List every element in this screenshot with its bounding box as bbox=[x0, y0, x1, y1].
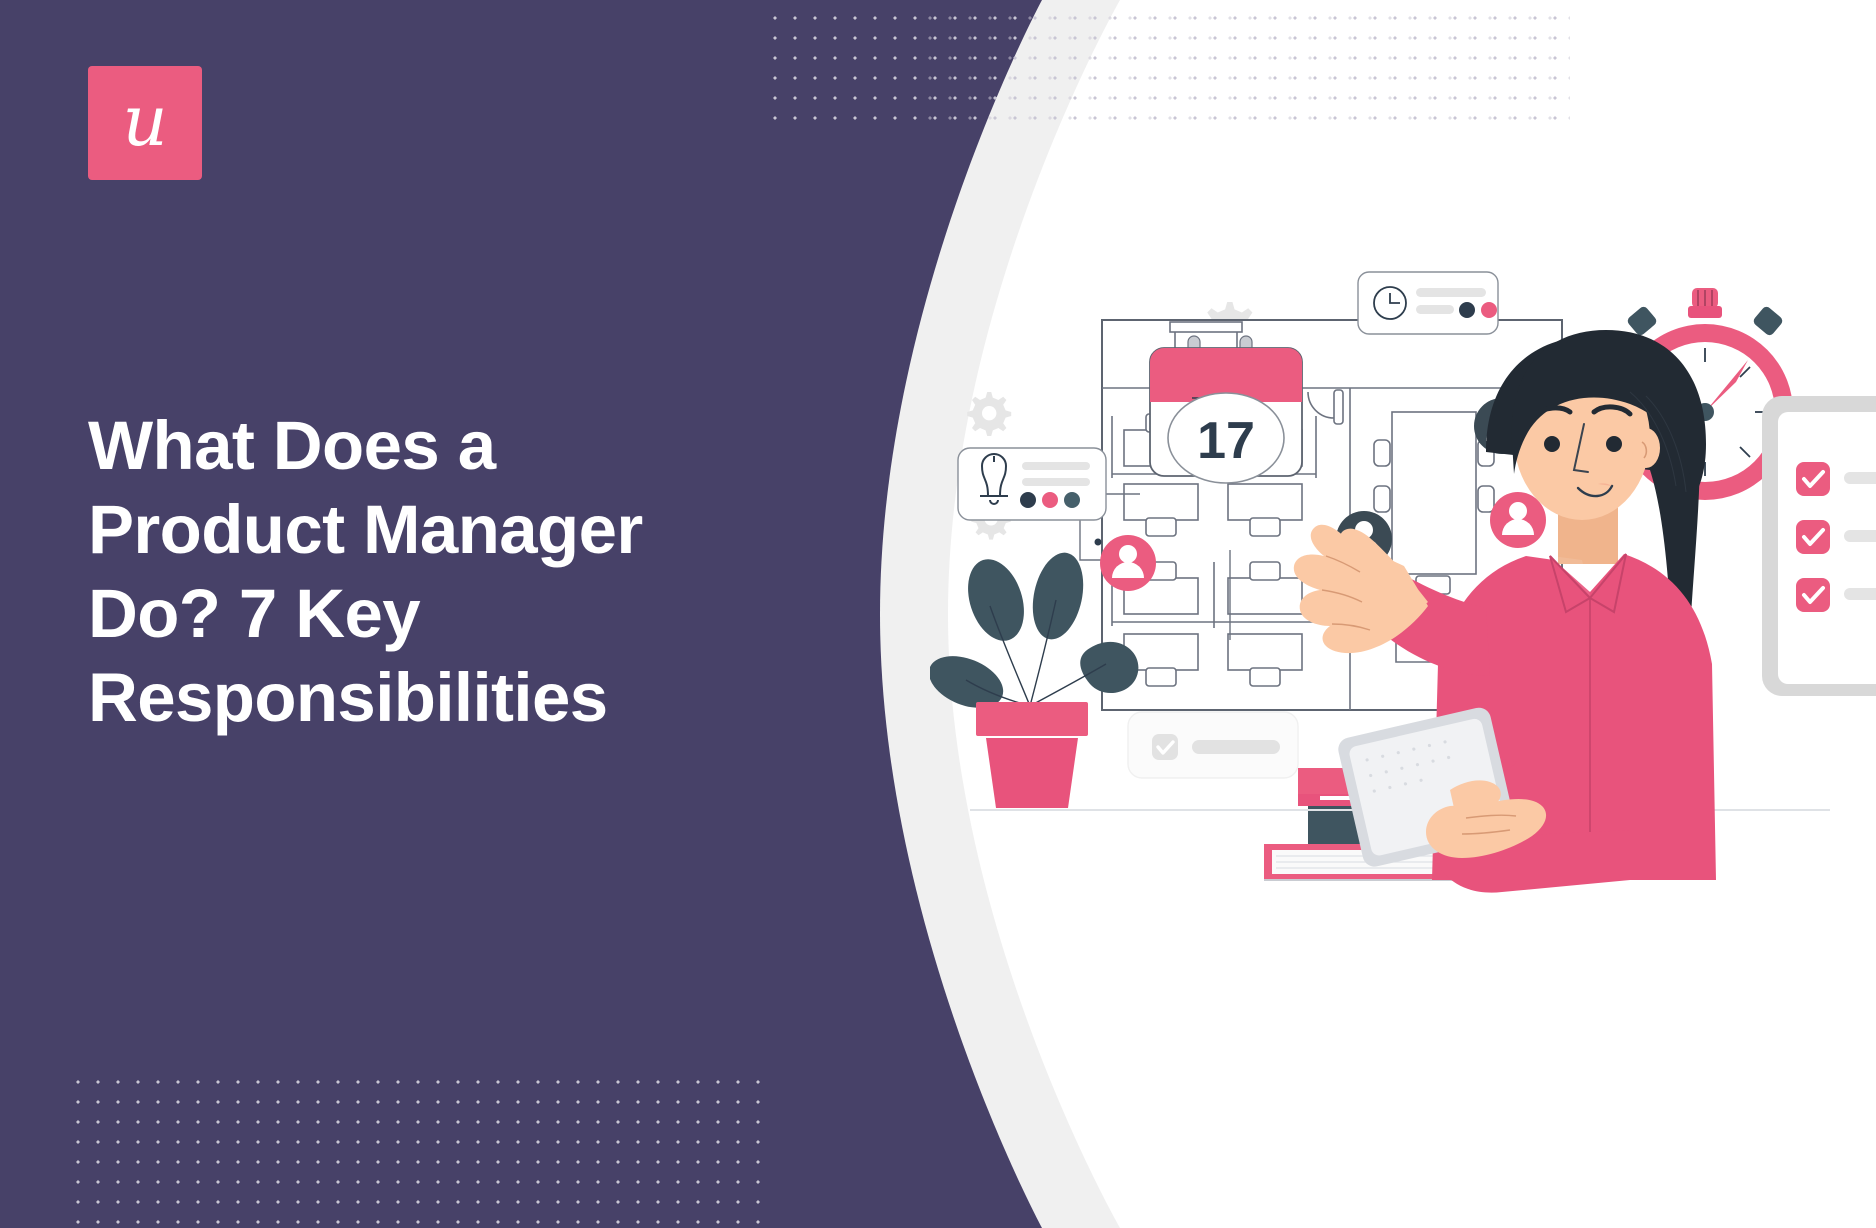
brand-logo[interactable]: u bbox=[88, 66, 202, 180]
hero-banner: u What Does a Product Manager Do? 7 Key … bbox=[0, 0, 1876, 1228]
brand-logo-letter: u bbox=[122, 86, 167, 156]
page-title: What Does a Product Manager Do? 7 Key Re… bbox=[88, 404, 788, 740]
curve-foreground bbox=[948, 0, 1876, 1228]
